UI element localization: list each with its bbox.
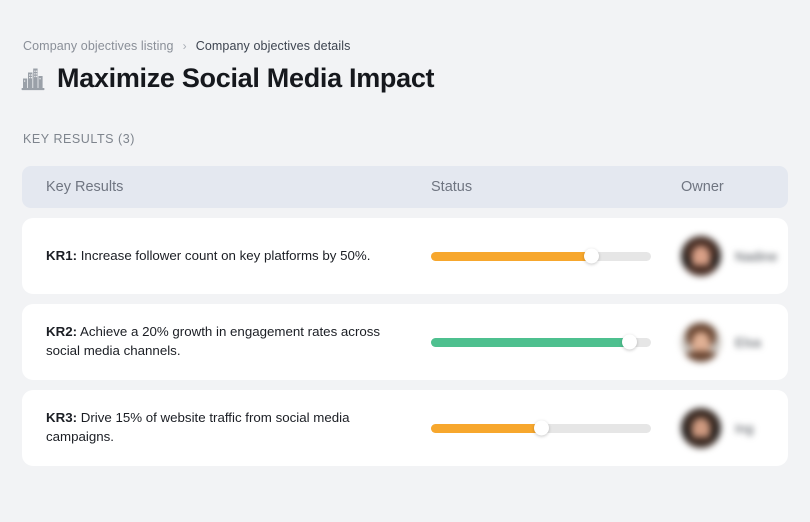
status-cell (431, 424, 681, 433)
key-results-table: Key Results Status Owner KR1: Increase f… (22, 166, 788, 466)
table-row[interactable]: KR3: Drive 15% of website traffic from s… (22, 390, 788, 466)
key-results-section-label: KEY RESULTS (3) (23, 132, 135, 146)
key-result-label: KR3: (46, 410, 77, 425)
owner-name: Ing (735, 421, 754, 436)
slider-thumb[interactable] (622, 335, 637, 350)
slider-fill (431, 338, 629, 347)
column-header-status: Status (431, 179, 681, 195)
owner-name: Elsa (735, 335, 761, 350)
owner-cell: Ing (681, 408, 764, 448)
owner-name: Nadine (735, 249, 777, 264)
chevron-right-icon: › (183, 39, 187, 53)
avatar (681, 322, 721, 362)
key-result-description: Achieve a 20% growth in engagement rates… (46, 324, 380, 358)
page-header: Maximize Social Media Impact (21, 65, 434, 92)
table-row[interactable]: KR1: Increase follower count on key plat… (22, 218, 788, 294)
slider-thumb[interactable] (534, 421, 549, 436)
key-result-description: Drive 15% of website traffic from social… (46, 410, 349, 444)
table-header-row: Key Results Status Owner (22, 166, 788, 208)
breadcrumb: Company objectives listing › Company obj… (23, 39, 350, 53)
status-cell (431, 252, 681, 261)
owner-cell: Elsa (681, 322, 764, 362)
avatar (681, 236, 721, 276)
progress-slider[interactable] (431, 252, 651, 261)
page-title: Maximize Social Media Impact (57, 65, 434, 92)
status-cell (431, 338, 681, 347)
table-row[interactable]: KR2: Achieve a 20% growth in engagement … (22, 304, 788, 380)
slider-fill (431, 424, 541, 433)
key-result-label: KR2: (46, 324, 77, 339)
progress-slider[interactable] (431, 424, 651, 433)
key-result-description: Increase follower count on key platforms… (77, 248, 370, 263)
avatar (681, 408, 721, 448)
slider-thumb[interactable] (584, 249, 599, 264)
key-result-text: KR2: Achieve a 20% growth in engagement … (46, 323, 431, 361)
owner-cell: Nadine (681, 236, 777, 276)
key-result-text: KR3: Drive 15% of website traffic from s… (46, 409, 431, 447)
key-result-text: KR1: Increase follower count on key plat… (46, 247, 431, 266)
cityscape-icon (21, 66, 45, 92)
breadcrumb-parent-link[interactable]: Company objectives listing (23, 39, 174, 53)
column-header-owner: Owner (681, 179, 764, 195)
key-result-label: KR1: (46, 248, 77, 263)
objective-details-page: Company objectives listing › Company obj… (0, 0, 810, 522)
breadcrumb-current: Company objectives details (196, 39, 351, 53)
progress-slider[interactable] (431, 338, 651, 347)
slider-fill (431, 252, 592, 261)
column-header-key-results: Key Results (46, 179, 431, 195)
